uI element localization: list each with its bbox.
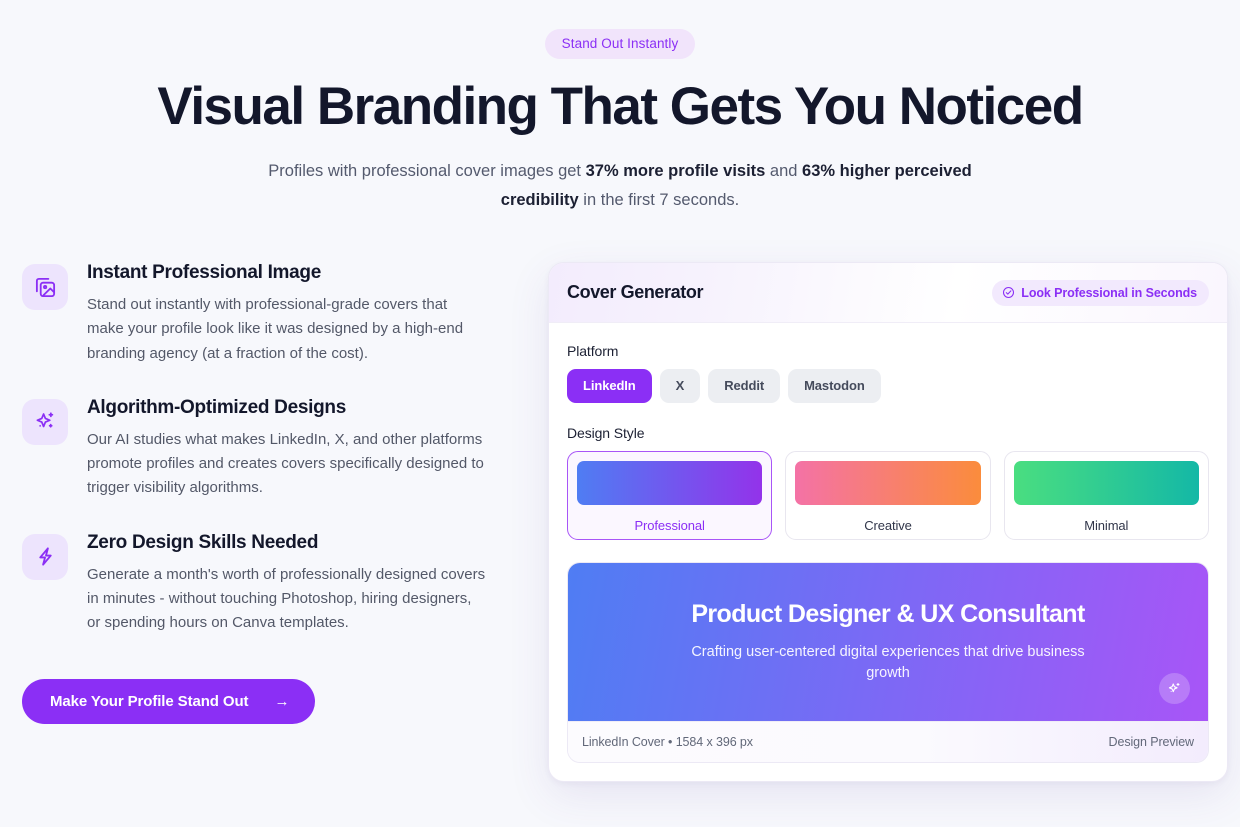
hero-sub-part2: and [765, 162, 802, 180]
hero-sub-part3: in the first 7 seconds. [579, 191, 740, 209]
feature-text: Algorithm-Optimized Designs Our AI studi… [87, 397, 487, 501]
design-style-option-minimal[interactable]: Minimal [1004, 451, 1209, 540]
platform-option-linkedin[interactable]: LinkedIn [567, 369, 652, 403]
status-badge-label: Look Professional in Seconds [1021, 286, 1197, 300]
feature-text: Instant Professional Image Stand out ins… [87, 262, 487, 366]
cover-generator-card: Cover Generator Look Professional in Sec… [548, 262, 1228, 782]
hero-section: Stand Out Instantly Visual Branding That… [0, 0, 1240, 214]
style-name: Minimal [1014, 518, 1199, 533]
feature-title: Instant Professional Image [87, 262, 487, 284]
page-root: Stand Out Instantly Visual Branding That… [0, 0, 1240, 827]
platform-label: Platform [567, 343, 1209, 359]
page-title: Visual Branding That Gets You Noticed [0, 79, 1240, 135]
feature-description: Generate a month's worth of professional… [87, 563, 487, 636]
cover-dimensions-label: LinkedIn Cover • 1584 x 396 px [582, 735, 753, 749]
circle-check-icon [1002, 286, 1015, 299]
features-column: Instant Professional Image Stand out ins… [0, 262, 520, 724]
content-columns: Instant Professional Image Stand out ins… [0, 262, 1240, 782]
status-badge: Look Professional in Seconds [992, 280, 1209, 306]
feature-title: Zero Design Skills Needed [87, 532, 487, 554]
style-swatch-minimal [1014, 461, 1199, 505]
style-swatch-creative [795, 461, 980, 505]
card-header: Cover Generator Look Professional in Sec… [549, 263, 1227, 323]
images-icon [22, 264, 68, 310]
platform-option-reddit[interactable]: Reddit [708, 369, 780, 403]
design-style-label: Design Style [567, 425, 1209, 441]
make-profile-stand-out-button[interactable]: Make Your Profile Stand Out → [22, 679, 315, 724]
feature-title: Algorithm-Optimized Designs [87, 397, 487, 419]
feature-item: Algorithm-Optimized Designs Our AI studi… [22, 397, 520, 501]
generator-column: Cover Generator Look Professional in Sec… [520, 262, 1218, 782]
cta-label: Make Your Profile Stand Out [50, 693, 248, 710]
feature-description: Our AI studies what makes LinkedIn, X, a… [87, 428, 487, 501]
hero-sub-part1: Profiles with professional cover images … [268, 162, 585, 180]
style-swatch-professional [577, 461, 762, 505]
platform-option-mastodon[interactable]: Mastodon [788, 369, 881, 403]
feature-item: Zero Design Skills Needed Generate a mon… [22, 532, 520, 636]
card-title: Cover Generator [567, 282, 703, 303]
preview-footer: LinkedIn Cover • 1584 x 396 px Design Pr… [568, 721, 1208, 762]
sparkles-icon [1159, 673, 1190, 704]
zap-icon [22, 534, 68, 580]
hero-subtitle: Profiles with professional cover images … [255, 157, 985, 214]
platform-selector: LinkedIn X Reddit Mastodon [567, 369, 1209, 403]
feature-text: Zero Design Skills Needed Generate a mon… [87, 532, 487, 636]
sparkles-icon [22, 399, 68, 445]
style-name: Professional [577, 518, 762, 533]
cover-subheadline: Crafting user-centered digital experienc… [673, 642, 1103, 684]
arrow-right-icon: → [274, 694, 289, 709]
design-style-option-creative[interactable]: Creative [785, 451, 990, 540]
feature-description: Stand out instantly with professional-gr… [87, 293, 487, 366]
design-style-selector: Professional Creative Minimal [567, 451, 1209, 540]
cover-preview: Product Designer & UX Consultant Craftin… [567, 562, 1209, 763]
preview-mode-label: Design Preview [1109, 735, 1194, 749]
hero-stat-visits: 37% more profile visits [586, 162, 766, 180]
feature-item: Instant Professional Image Stand out ins… [22, 262, 520, 366]
cover-headline: Product Designer & UX Consultant [691, 600, 1084, 629]
style-name: Creative [795, 518, 980, 533]
design-style-option-professional[interactable]: Professional [567, 451, 772, 540]
hero-badge: Stand Out Instantly [545, 29, 696, 59]
cover-canvas: Product Designer & UX Consultant Craftin… [568, 563, 1208, 721]
platform-option-x[interactable]: X [660, 369, 701, 403]
card-body: Platform LinkedIn X Reddit Mastodon Desi… [549, 323, 1227, 781]
